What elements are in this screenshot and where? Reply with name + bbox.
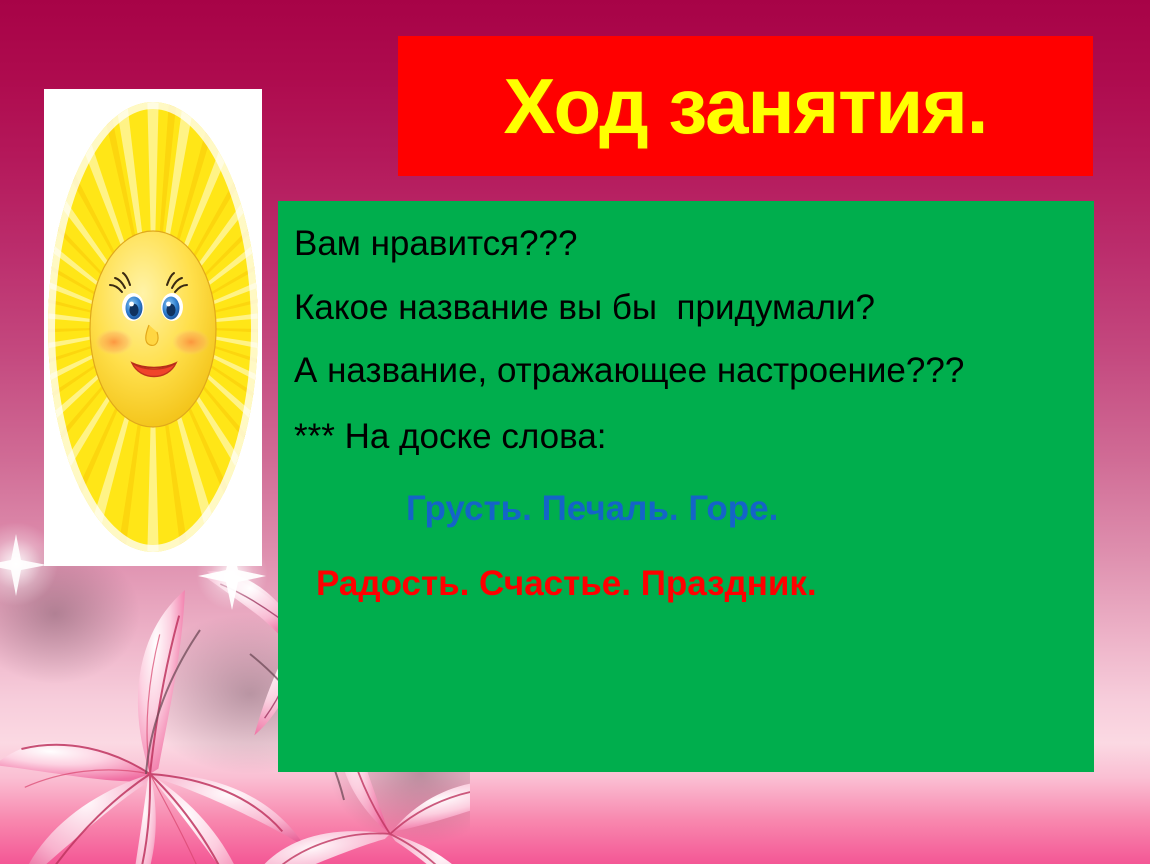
content-box: Вам нравится??? Какое название вы бы при… [278, 201, 1094, 772]
smiling-sun-icon [44, 89, 262, 566]
content-line-3: А название, отражающее настроение??? [294, 346, 1080, 396]
sad-words-line: Грусть. Печаль. Горе. [294, 484, 1080, 534]
content-line-1: Вам нравится??? [294, 219, 1080, 269]
sun-image-frame [44, 89, 262, 566]
slide-canvas: Ход занятия. Вам нравится??? Какое назва… [0, 0, 1150, 864]
content-line-2: Какое название вы бы придумали? [294, 283, 1080, 333]
page-title: Ход занятия. [504, 67, 988, 145]
content-line-4: *** На доске слова: [294, 412, 1080, 462]
title-banner: Ход занятия. [398, 36, 1093, 176]
sun-face [90, 231, 216, 427]
happy-words-line: Радость. Счастье. Праздник. [294, 559, 1080, 609]
